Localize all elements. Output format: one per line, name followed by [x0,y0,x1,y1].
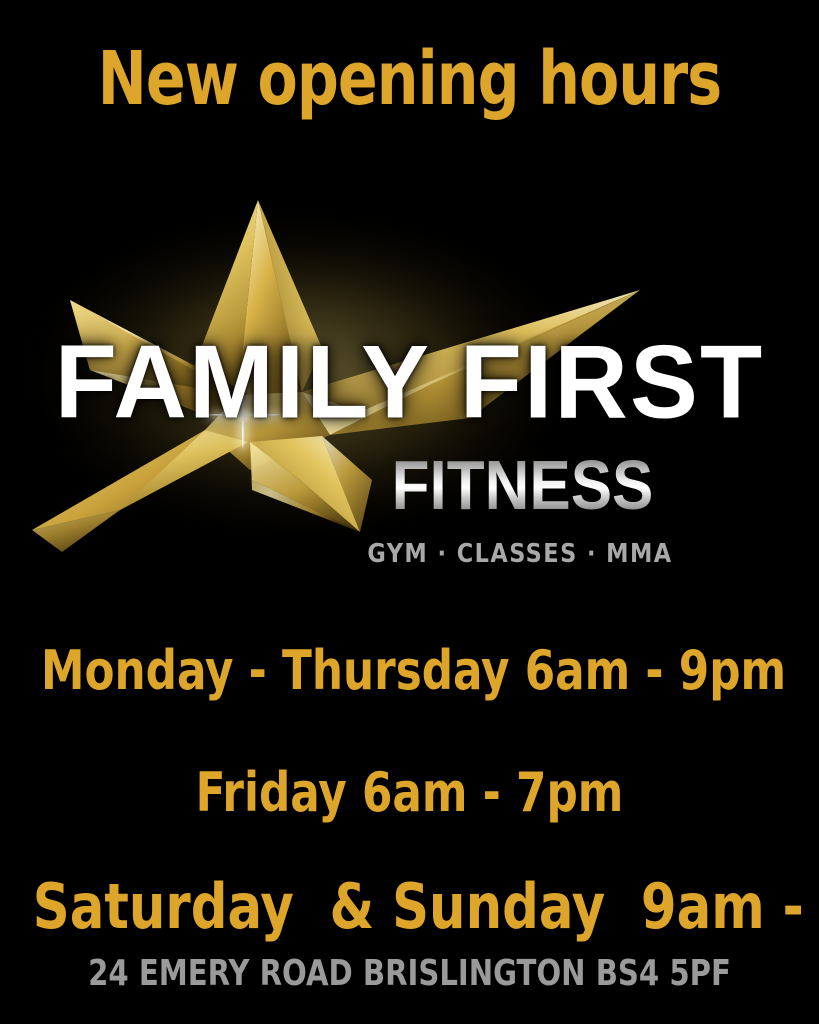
hours-line-weekend: Saturday & Sunday 9am - 12pm [33,872,786,942]
hours-line-weekday: Monday - Thursday 6am - 9pm [41,640,778,702]
address-line: 24 EMERY ROAD BRISLINGTON BS4 5PF [41,952,778,996]
logo-subword-fitness: FITNESS [385,452,660,521]
brand-logo: FAMILY FIRST FITNESS GYM · CLASSES · MMA [0,180,819,590]
hours-line-friday: Friday 6am - 7pm [41,762,778,824]
logo-tagline: GYM · CLASSES · MMA [338,540,703,568]
poster-canvas: New opening hours [0,0,819,1024]
logo-wordmark: FAMILY FIRST [0,331,819,435]
page-title: New opening hours [49,38,770,120]
